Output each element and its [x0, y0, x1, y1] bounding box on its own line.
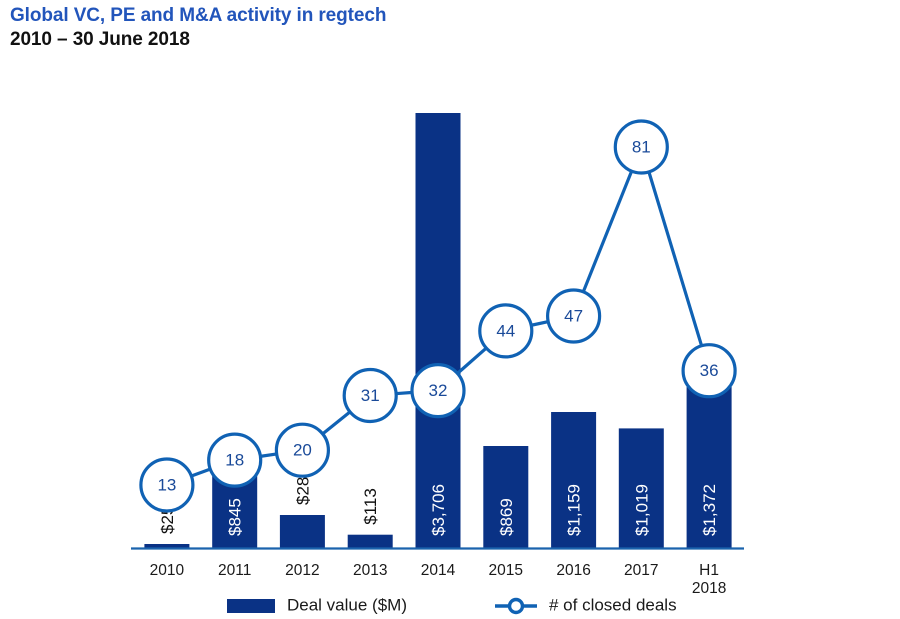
deal-count-label-2010: 13 [157, 475, 176, 494]
line-segment-2013-to-2014 [395, 392, 413, 393]
line-segment-2010-to-2011 [190, 469, 211, 477]
x-axis-label-H1-2018: H12018 [692, 562, 726, 597]
x-axis-label-2017: 2017 [624, 562, 658, 579]
x-axis-label-2016: 2016 [556, 562, 590, 579]
legend-swatch-deal-value [227, 599, 275, 613]
deal-count-label-2016: 47 [564, 306, 583, 325]
x-axis-label-2011: 2011 [218, 562, 251, 579]
x-axis-label-2015: 2015 [489, 562, 523, 579]
x-axis-label-2012: 2012 [285, 562, 319, 579]
bar-value-label-2017: $1,019 [632, 484, 651, 536]
deal-count-label-H1-2018: 36 [700, 361, 719, 380]
x-axis-label-2013: 2013 [353, 562, 387, 579]
bar-value-label-2016: $1,159 [565, 484, 584, 536]
line-segment-2016-to-2017 [583, 170, 632, 293]
bar-2013[interactable] [348, 535, 393, 548]
bar-value-label-2014: $3,706 [429, 484, 448, 536]
bar-value-label-2013: $113 [361, 488, 380, 525]
deal-count-label-2015: 44 [496, 321, 515, 340]
bar-value-label-2015: $869 [497, 498, 516, 536]
deal-count-label-2012: 20 [293, 441, 312, 460]
line-segment-2011-to-2012 [259, 454, 277, 457]
deal-count-label-2014: 32 [429, 381, 448, 400]
chart-legend: Deal value ($M)# of closed deals [227, 595, 677, 614]
line-segment-2012-to-2013 [322, 411, 351, 434]
legend-marker-closed-deals [510, 600, 523, 613]
line-segment-2014-to-2015 [457, 347, 487, 374]
chart-canvas: $25$845$281$113$3,706$869$1,159$1,019$1,… [0, 0, 900, 619]
line-segment-2015-to-2016 [530, 321, 549, 325]
line-segment-2017-to-H1-2018 [649, 171, 702, 347]
bar-value-label-2011: $845 [226, 498, 245, 536]
bar-value-label-H1-2018: $1,372 [700, 484, 719, 536]
x-axis-categories: 20102011201220132014201520162017H12018 [150, 562, 727, 597]
x-axis-label-2010: 2010 [150, 562, 185, 579]
deal-count-label-2011: 18 [225, 451, 244, 470]
bar-2012[interactable] [280, 515, 325, 548]
legend-label-deal-value: Deal value ($M) [287, 595, 407, 614]
legend-label-closed-deals: # of closed deals [549, 595, 677, 614]
x-axis-label-2014: 2014 [421, 562, 456, 579]
bar-2014[interactable] [416, 113, 461, 548]
deal-count-label-2013: 31 [361, 386, 380, 405]
deal-count-label-2017: 81 [632, 137, 651, 156]
